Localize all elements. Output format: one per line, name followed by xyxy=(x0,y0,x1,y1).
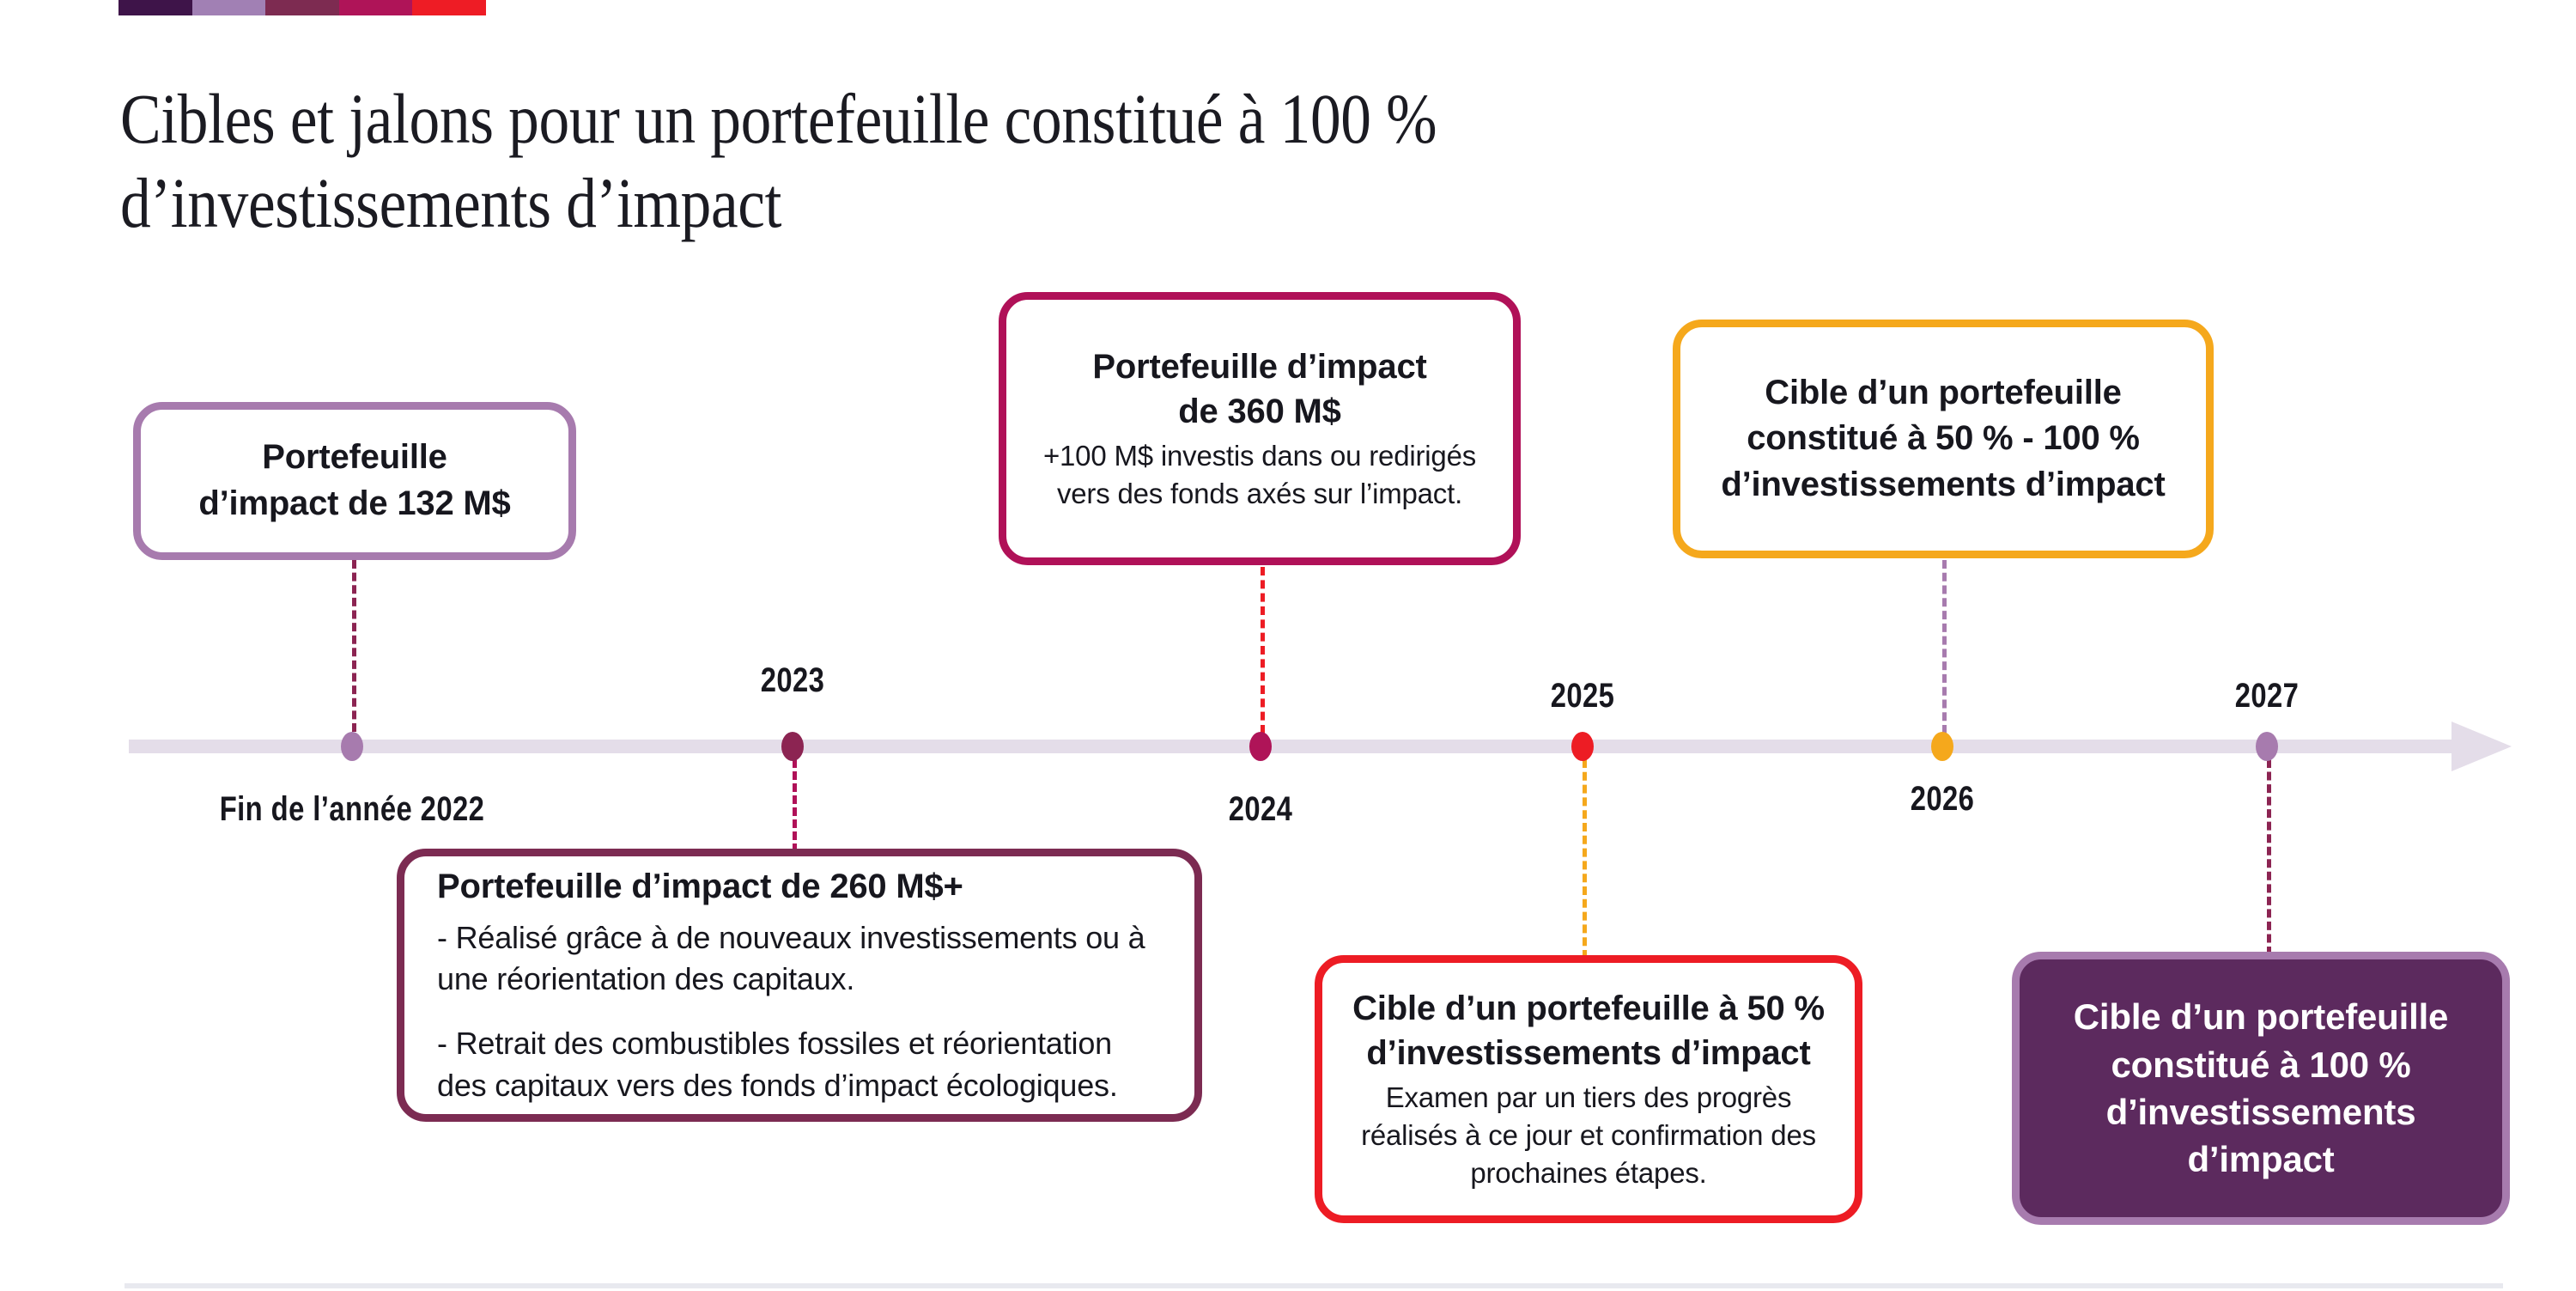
milestone-dot-2023[interactable] xyxy=(781,732,804,761)
milestone-dot-2027[interactable] xyxy=(2256,732,2278,761)
timeline-arrow-icon xyxy=(2451,722,2512,771)
accent-swatch-2 xyxy=(192,0,266,15)
milestone-dot-2024[interactable] xyxy=(1249,732,1272,761)
accent-swatch-4 xyxy=(339,0,413,15)
callout-box-2027[interactable]: Cible d’un portefeuille constitué à 100 … xyxy=(2012,952,2510,1225)
callout-2023-body-2: - Retrait des combustibles fossiles et r… xyxy=(437,1023,1162,1106)
callout-2024-title: Portefeuille d’impact de 360 M$ xyxy=(1036,344,1484,434)
accent-swatch-3 xyxy=(265,0,339,15)
year-label-2024: 2024 xyxy=(1229,790,1293,829)
milestone-dot-2025[interactable] xyxy=(1571,732,1594,761)
callout-box-2026[interactable]: Cible d’un portefeuille constitué à 50 %… xyxy=(1673,320,2214,558)
footer-divider xyxy=(125,1283,2503,1288)
callout-2022-title: Portefeuille d’impact de 132 M$ xyxy=(163,435,546,527)
callout-2026-title: Cible d’un portefeuille constitué à 50 %… xyxy=(1706,370,2180,508)
brand-accent-bar xyxy=(118,0,486,15)
milestone-dot-2022[interactable] xyxy=(341,732,363,761)
callout-2025-body: Examen par un tiers des progrès réalisés… xyxy=(1348,1079,1829,1192)
connector-2026 xyxy=(1942,560,1947,734)
connector-2025 xyxy=(1583,759,1587,959)
connector-2023 xyxy=(793,759,797,852)
milestone-dot-2026[interactable] xyxy=(1931,732,1953,761)
connector-2027 xyxy=(2267,759,2271,955)
page-title: Cibles et jalons pour un portefeuille co… xyxy=(120,77,1893,246)
timeline-axis-line xyxy=(129,740,2456,753)
year-label-2026: 2026 xyxy=(1911,780,1975,819)
callout-2024-body: +100 M$ investis dans ou redirigés vers … xyxy=(1036,437,1484,513)
year-label-2025: 2025 xyxy=(1551,677,1615,716)
connector-2024 xyxy=(1261,567,1265,734)
year-label-2022: Fin de l’année 2022 xyxy=(220,790,485,829)
callout-2025-title: Cible d’un portefeuille à 50 % d’investi… xyxy=(1348,986,1829,1075)
year-label-2023: 2023 xyxy=(761,661,825,700)
callout-2023-title: Portefeuille d’impact de 260 M$+ xyxy=(437,864,1162,909)
callout-box-2023[interactable]: Portefeuille d’impact de 260 M$+ - Réali… xyxy=(397,849,1202,1122)
accent-swatch-1 xyxy=(118,0,192,15)
callout-box-2022[interactable]: Portefeuille d’impact de 132 M$ xyxy=(133,402,576,560)
callout-box-2025[interactable]: Cible d’un portefeuille à 50 % d’investi… xyxy=(1315,955,1862,1223)
connector-2022 xyxy=(352,560,356,732)
callout-2027-title: Cible d’un portefeuille constitué à 100 … xyxy=(2045,993,2476,1184)
year-label-2027: 2027 xyxy=(2235,677,2300,716)
timeline-axis xyxy=(129,740,2512,753)
callout-box-2024[interactable]: Portefeuille d’impact de 360 M$ +100 M$ … xyxy=(999,292,1521,565)
callout-2023-body-1: - Réalisé grâce à de nouveaux investisse… xyxy=(437,917,1162,1001)
accent-swatch-5 xyxy=(412,0,486,15)
